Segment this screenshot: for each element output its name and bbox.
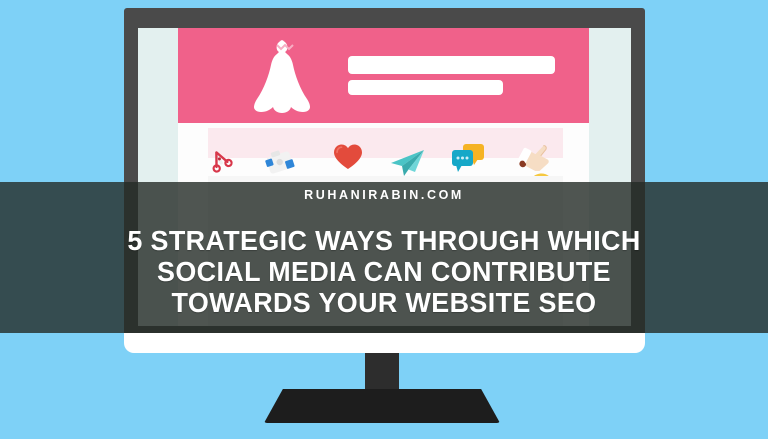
wedding-dress-icon — [246, 36, 324, 118]
camera-icon — [263, 147, 297, 179]
hero-text-bar-2 — [348, 80, 503, 95]
monitor-bottom-bezel — [124, 333, 645, 353]
paper-plane-icon — [388, 147, 426, 179]
hero-text-bar-1 — [348, 56, 555, 74]
headline-line-1: 5 STRATEGIC WAYS THROUGH WHICH — [15, 225, 752, 256]
hero-banner — [178, 28, 589, 123]
social-icon-row — [178, 123, 589, 171]
heart-icon — [332, 142, 364, 172]
headline-line-2: SOCIAL MEDIA CAN CONTRIBUTE — [15, 256, 752, 287]
chat-bubbles-icon — [450, 142, 486, 176]
featured-image-banner: RUHANIRABIN.COM 5 STRATEGIC WAYS THROUGH… — [0, 0, 768, 439]
scissors-icon — [204, 143, 234, 173]
site-url: RUHANIRABIN.COM — [0, 188, 768, 202]
monitor-stand-base — [264, 389, 500, 423]
headline-line-3: TOWARDS YOUR WEBSITE SEO — [15, 287, 752, 318]
thumbs-up-icon — [518, 139, 552, 171]
page-title: 5 STRATEGIC WAYS THROUGH WHICH SOCIAL ME… — [15, 225, 752, 318]
monitor-stand-neck — [365, 353, 399, 393]
